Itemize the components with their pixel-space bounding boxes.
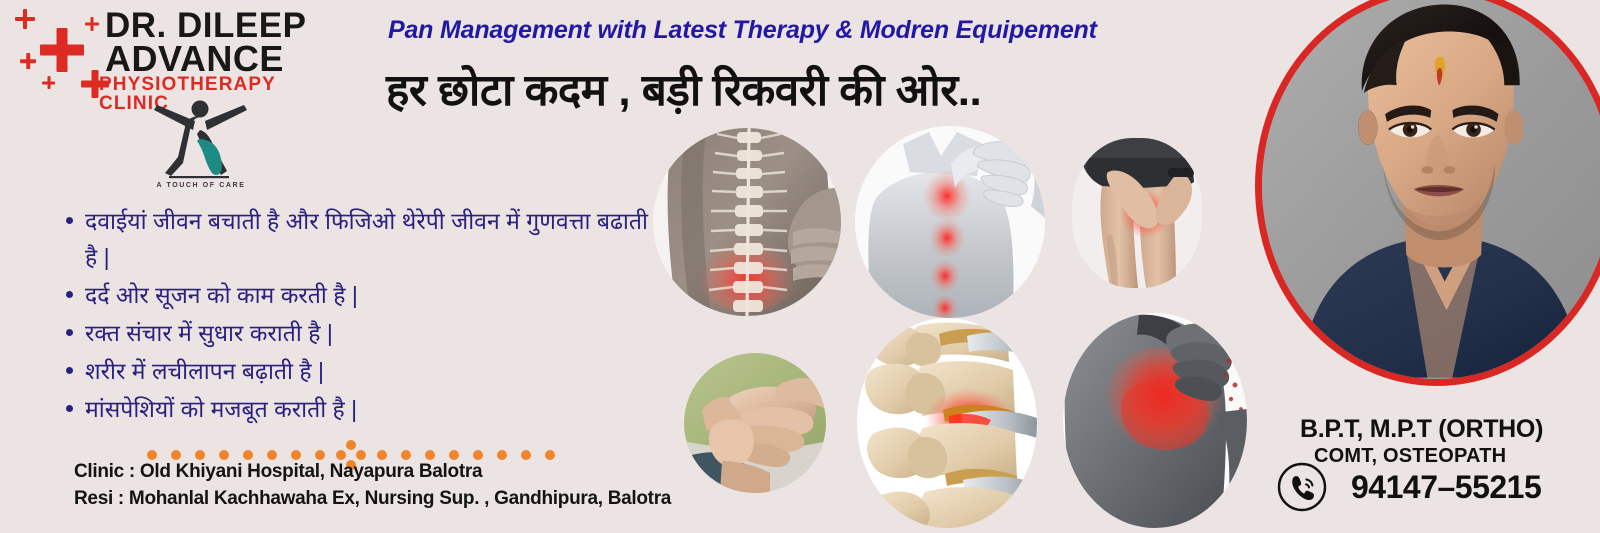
list-item: दर्द ओर सूजन को काम करती है | bbox=[58, 277, 658, 313]
list-item: शरीर में लचीलापन बढ़ाती है | bbox=[58, 353, 658, 389]
benefit-text: दवाईयां जीवन बचाती है और फिजिओ थेरेपी जी… bbox=[85, 203, 658, 275]
benefits-list: दवाईयां जीवन बचाती है और फिजिओ थेरेपी जी… bbox=[58, 203, 658, 429]
vertebrae-disc-image bbox=[857, 318, 1037, 528]
clinic-logo-block: DR. DILEEP ADVANCE PHYSIOTHERAPY CLINIC … bbox=[0, 0, 340, 205]
clinic-address: Clinic : Old Khiyani Hospital, Nayapura … bbox=[74, 458, 671, 485]
phone-number[interactable]: 94147–55215 bbox=[1351, 469, 1541, 506]
benefit-text: शरीर में लचीलापन बढ़ाती है | bbox=[85, 353, 324, 389]
bullet-dot-icon bbox=[66, 217, 73, 224]
bullet-dot-icon bbox=[66, 329, 73, 336]
wrist-pain-image bbox=[684, 353, 826, 493]
logo-tagline: A TOUCH OF CARE bbox=[140, 182, 262, 189]
doctor-photo-image bbox=[1262, 0, 1600, 378]
credentials-line-1: B.P.T, M.P.T (ORTHO) bbox=[1300, 415, 1600, 444]
spine-pain-image bbox=[653, 128, 841, 316]
bullet-dot-icon bbox=[66, 367, 73, 374]
hindi-headline: हर छोटा कदम , बड़ी रिकवरी की ओर.. bbox=[386, 58, 981, 118]
bullet-dot-icon bbox=[66, 405, 73, 412]
phone-contact[interactable]: 94147–55215 bbox=[1277, 462, 1541, 512]
plus-icon-top-left bbox=[15, 9, 35, 29]
credentials-block: B.P.T, M.P.T (ORTHO) COMT, OSTEOPATH bbox=[1300, 415, 1600, 468]
residence-address: Resi : Mohanlal Kachhawaha Ex, Nursing S… bbox=[74, 485, 671, 512]
plus-icon-mid-left bbox=[20, 53, 36, 69]
list-item: मांसपेशियों को मजबूत कराती है | bbox=[58, 391, 658, 427]
list-item: रक्त संचार में सुधार कराती है | bbox=[58, 315, 658, 351]
clinic-advertisement-banner: DR. DILEEP ADVANCE PHYSIOTHERAPY CLINIC … bbox=[0, 0, 1600, 533]
phone-call-icon[interactable] bbox=[1277, 462, 1327, 512]
dancing-figure-icon bbox=[145, 97, 255, 182]
benefit-text: मांसपेशियों को मजबूत कराती है | bbox=[85, 391, 357, 427]
benefit-text: रक्त संचार में सुधार कराती है | bbox=[85, 315, 333, 351]
cluster-dot bbox=[346, 440, 356, 450]
brand-name-line-2: ADVANCE bbox=[105, 41, 284, 77]
address-block: Clinic : Old Khiyani Hospital, Nayapura … bbox=[74, 458, 671, 512]
back-pain-image bbox=[855, 126, 1045, 318]
doctor-portrait bbox=[1255, 0, 1600, 386]
plus-icon-top-right bbox=[85, 17, 99, 31]
shoulder-pain-image bbox=[1063, 313, 1247, 528]
knee-pain-image bbox=[1072, 138, 1202, 288]
bullet-dot-icon bbox=[66, 291, 73, 298]
plus-icon-bottom-left bbox=[42, 76, 55, 89]
english-tagline: Pan Management with Latest Therapy & Mod… bbox=[388, 16, 1097, 45]
benefit-text: दर्द ओर सूजन को काम करती है | bbox=[85, 277, 358, 313]
plus-icon-large bbox=[40, 28, 84, 72]
list-item: दवाईयां जीवन बचाती है और फिजिओ थेरेपी जी… bbox=[58, 203, 658, 275]
